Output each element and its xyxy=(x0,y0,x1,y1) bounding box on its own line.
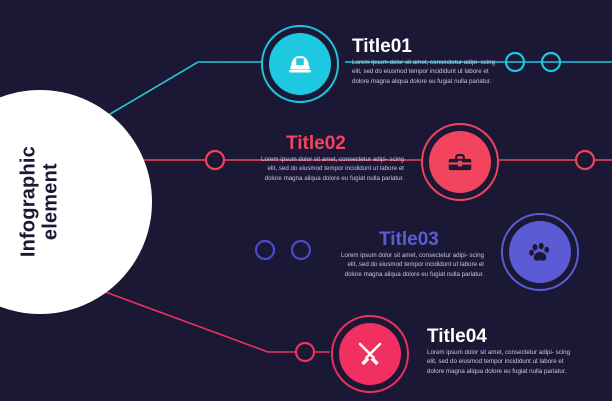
toolbox-icon xyxy=(445,147,475,177)
node-item-3[interactable] xyxy=(501,213,579,291)
infographic-badge-label: Infographic element xyxy=(18,117,61,287)
connector-dot-4a xyxy=(296,343,314,361)
node-item-2[interactable] xyxy=(421,123,499,201)
connector-dot-3b xyxy=(292,241,310,259)
connector-1 xyxy=(100,62,262,120)
connector-dot-2a xyxy=(206,151,224,169)
body-item-2: Lorem ipsum dolor sit amet, consectetur … xyxy=(254,155,404,183)
paw-print-icon xyxy=(525,237,555,267)
title-item-2: Title02 xyxy=(286,133,346,155)
police-helmet-icon xyxy=(285,49,315,79)
body-item-3: Lorem ipsum dolor sit amet, consectetur … xyxy=(334,251,484,279)
crossed-swords-icon xyxy=(355,339,385,369)
connector-dot-3a xyxy=(256,241,274,259)
title-item-3: Title03 xyxy=(379,229,439,251)
node-item-1[interactable] xyxy=(261,25,339,103)
body-item-4: Lorem ipsum dolor sit amet, consectetur … xyxy=(427,348,577,376)
connector-4 xyxy=(100,290,330,352)
connector-dot-2b xyxy=(576,151,594,169)
title-item-1: Title01 xyxy=(352,36,412,58)
title-item-4: Title04 xyxy=(427,326,487,348)
node-item-4[interactable] xyxy=(331,315,409,393)
infographic-canvas: Infographic element Title01 Lorem ipsum … xyxy=(0,0,612,401)
body-item-1: Lorem ipsum dolor sit amet, consectetur … xyxy=(352,58,502,86)
